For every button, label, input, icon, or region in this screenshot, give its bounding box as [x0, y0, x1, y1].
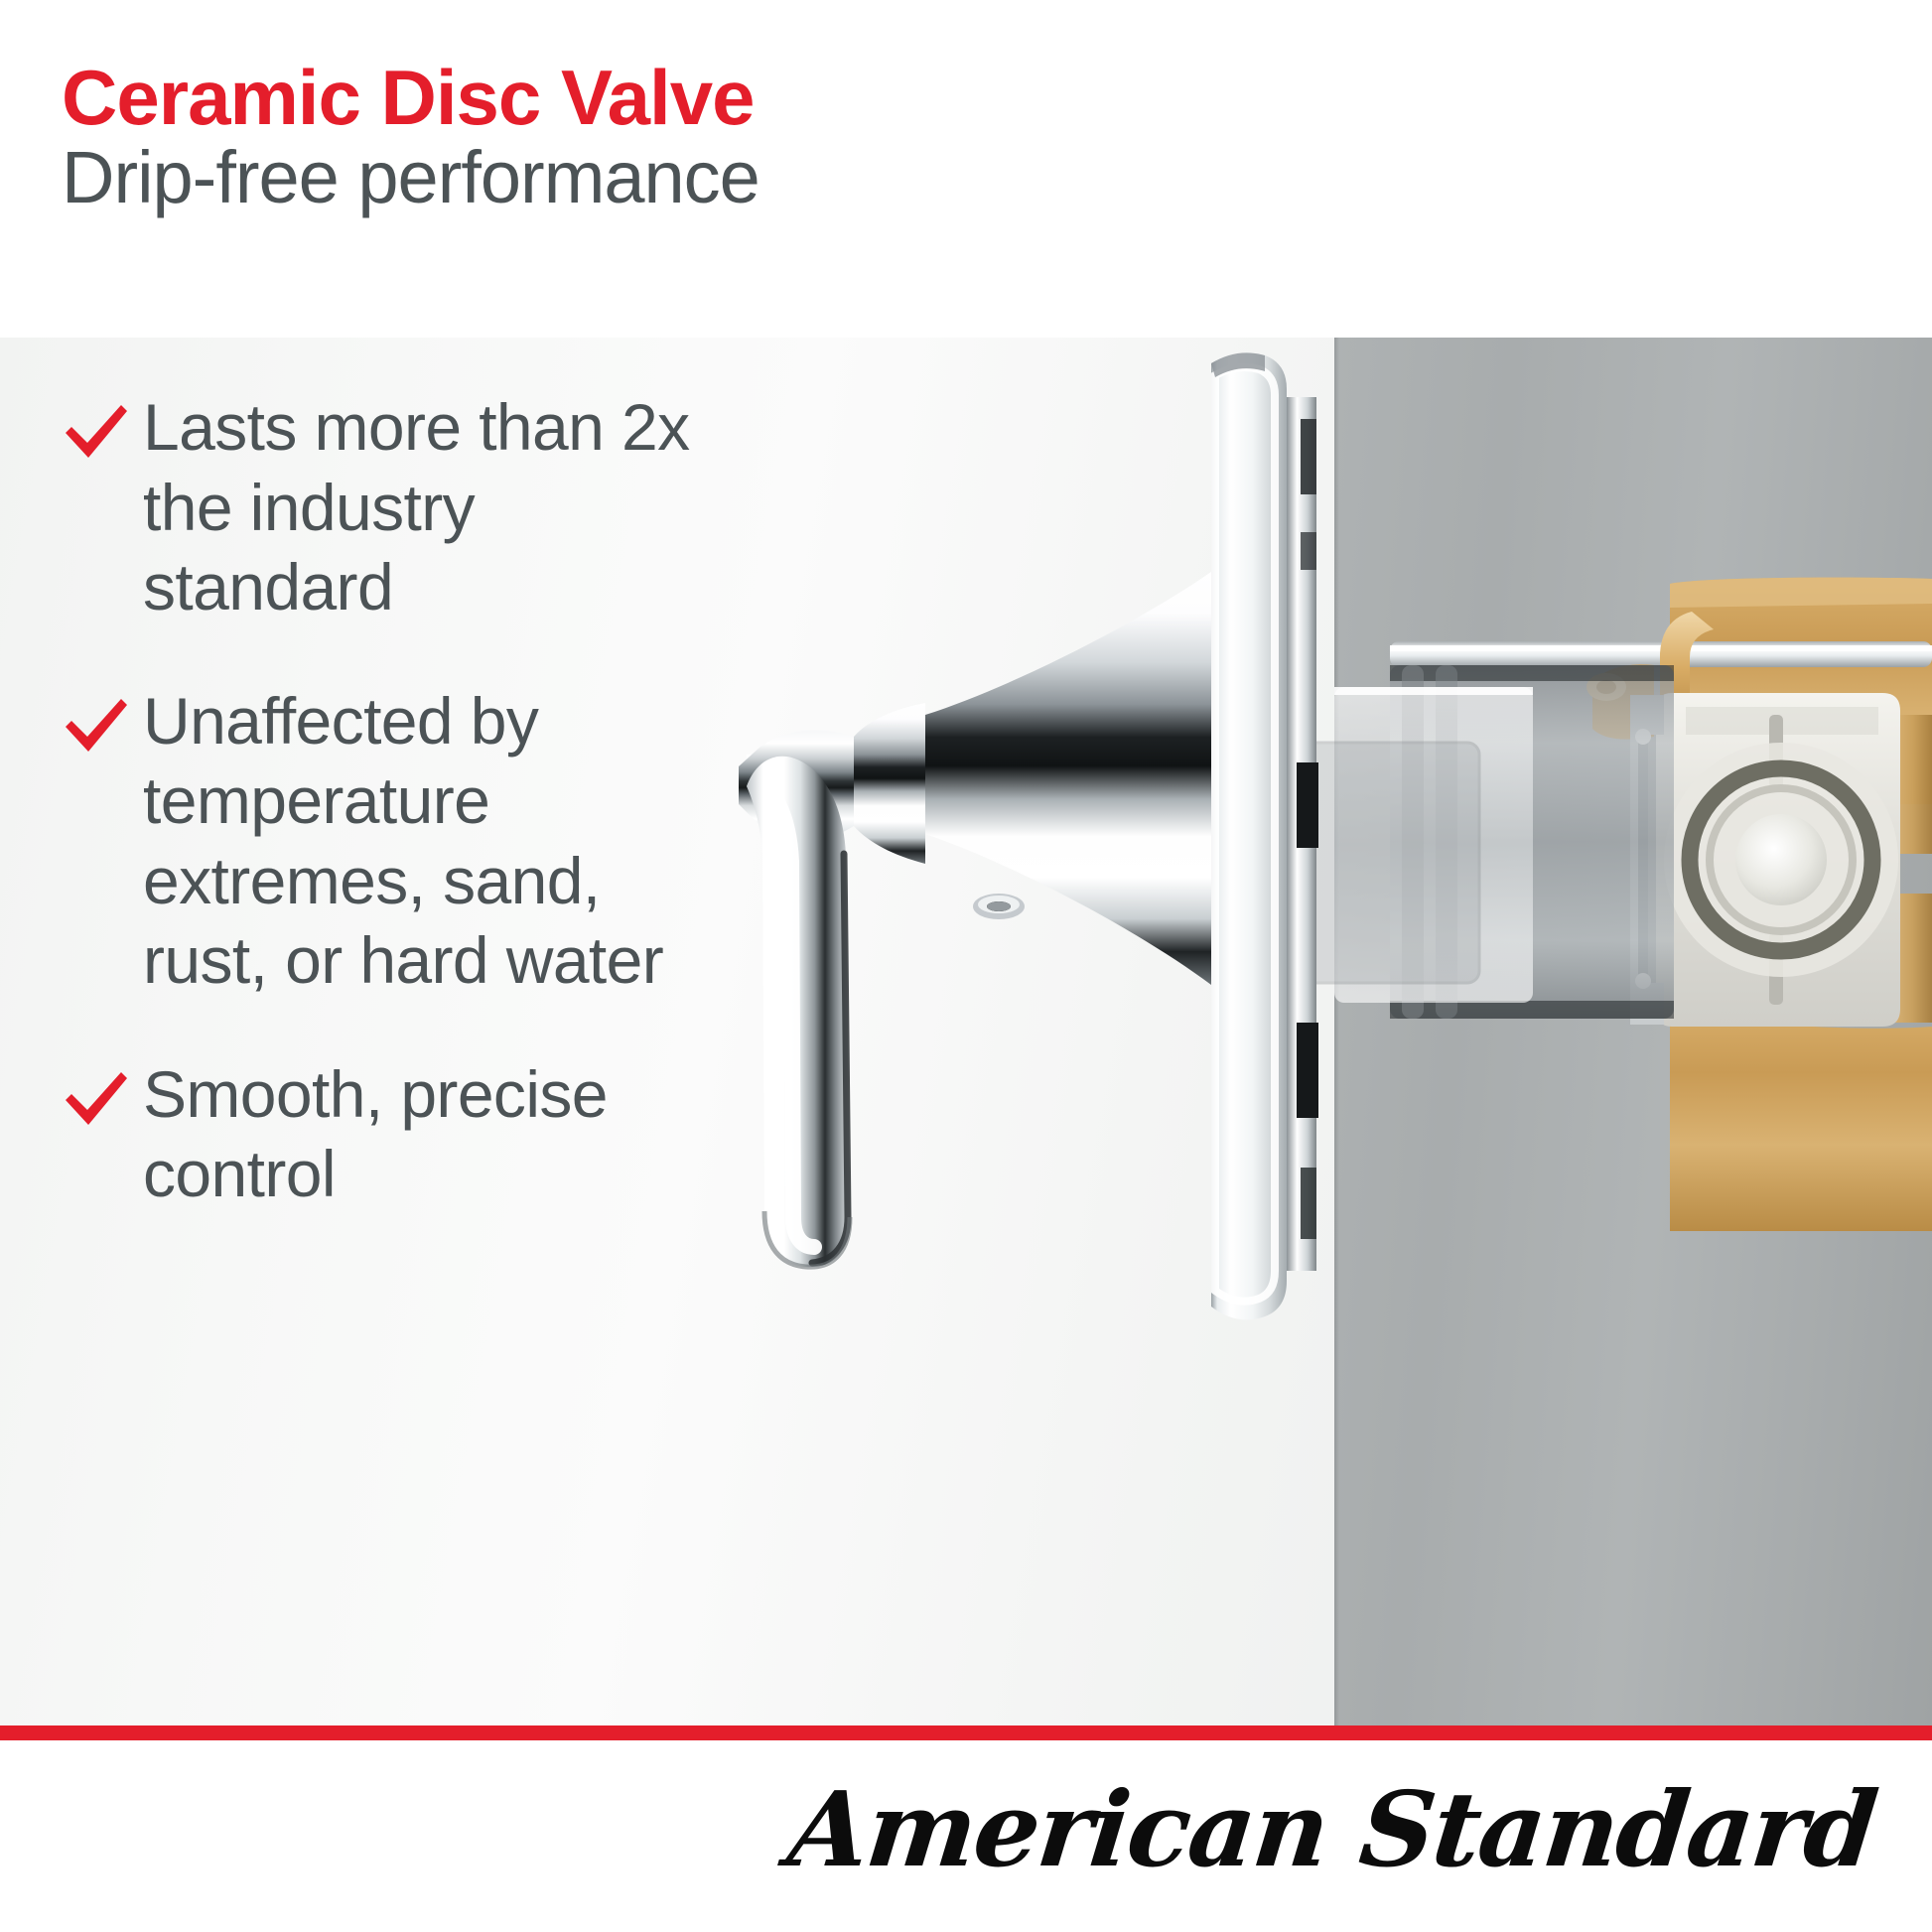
list-item-label: Unaffected by temperature extremes, sand… — [143, 681, 739, 1001]
list-item: Lasts more than 2x the industry standard — [62, 387, 757, 627]
check-mark-icon — [62, 1054, 143, 1130]
feature-list: Lasts more than 2x the industry standard… — [62, 387, 757, 1268]
check-mark-icon — [62, 681, 143, 757]
wall-edge-shadow — [1334, 338, 1339, 1725]
list-item: Smooth, precise control — [62, 1054, 757, 1214]
list-item-label: Lasts more than 2x the industry standard — [143, 387, 739, 627]
chrome-lever-handle — [747, 757, 850, 1267]
list-item: Unaffected by temperature extremes, sand… — [62, 681, 757, 1001]
wall-background — [1334, 338, 1932, 1725]
main-content-panel: Lasts more than 2x the industry standard… — [0, 338, 1932, 1725]
divider-rule — [0, 1725, 1932, 1740]
card-footer: American Standard — [0, 1740, 1932, 1932]
stem-splines — [864, 733, 1124, 814]
brand-logo: American Standard — [782, 1768, 1880, 1890]
product-feature-card: Ceramic Disc Valve Drip-free performance — [0, 0, 1932, 1932]
brass-stem-collar — [776, 739, 860, 814]
card-header: Ceramic Disc Valve Drip-free performance — [0, 0, 1932, 338]
list-item-label: Smooth, precise control — [143, 1054, 739, 1214]
chrome-handle-cone — [739, 572, 1211, 985]
page-subtitle: Drip-free performance — [62, 139, 759, 216]
valve-stem-assembly — [747, 733, 1124, 814]
chrome-escutcheon-plate — [1211, 352, 1318, 1319]
page-title: Ceramic Disc Valve — [62, 58, 754, 139]
check-mark-icon — [62, 387, 143, 463]
